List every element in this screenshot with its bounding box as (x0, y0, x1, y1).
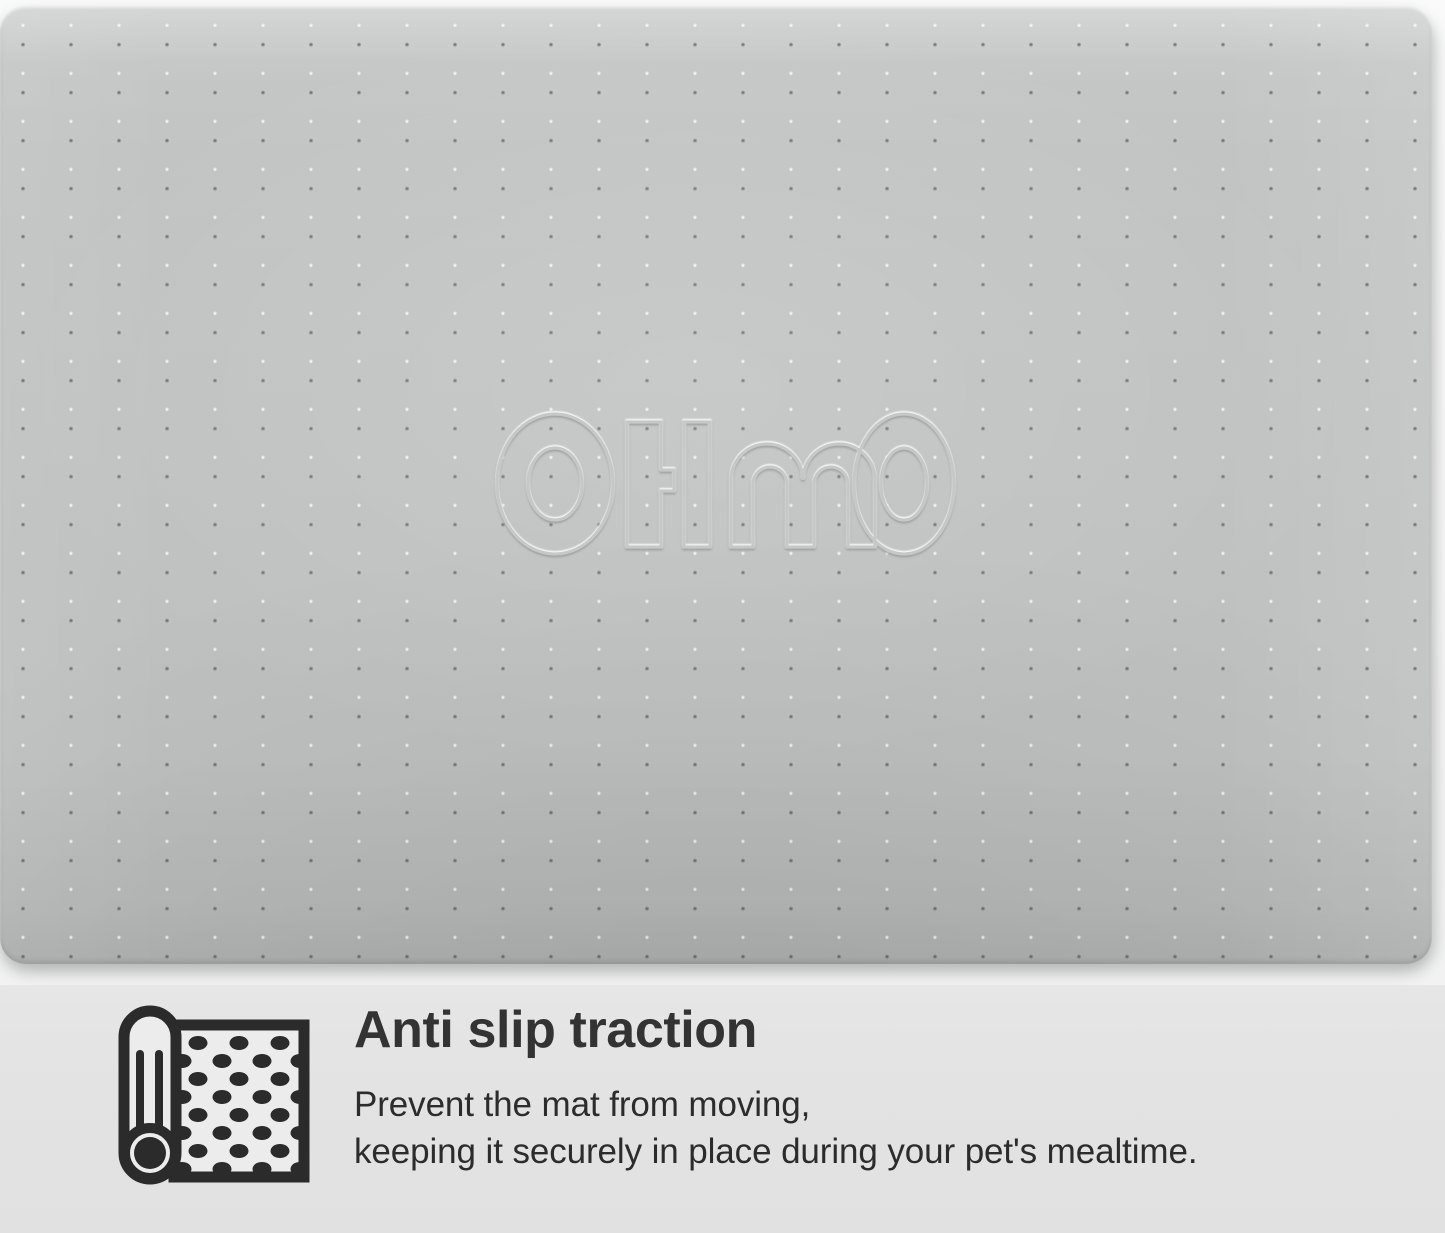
feature-description-line-2: keeping it securely in place during your… (354, 1128, 1197, 1175)
silicone-mat (0, 6, 1432, 964)
feature-heading: Anti slip traction (354, 999, 757, 1061)
brand-logo-ohmo (488, 406, 958, 561)
product-photo-area (0, 0, 1445, 985)
caption-content: Anti slip traction Prevent the mat from … (0, 985, 1445, 1233)
rolled-mat-with-dots-icon (112, 1003, 312, 1188)
feature-description-line-1: Prevent the mat from moving, (354, 1081, 1197, 1128)
feature-description: Prevent the mat from moving, keeping it … (354, 1081, 1197, 1175)
feature-caption-band: Anti slip traction Prevent the mat from … (0, 985, 1445, 1233)
product-feature-image: Anti slip traction Prevent the mat from … (0, 0, 1445, 1233)
